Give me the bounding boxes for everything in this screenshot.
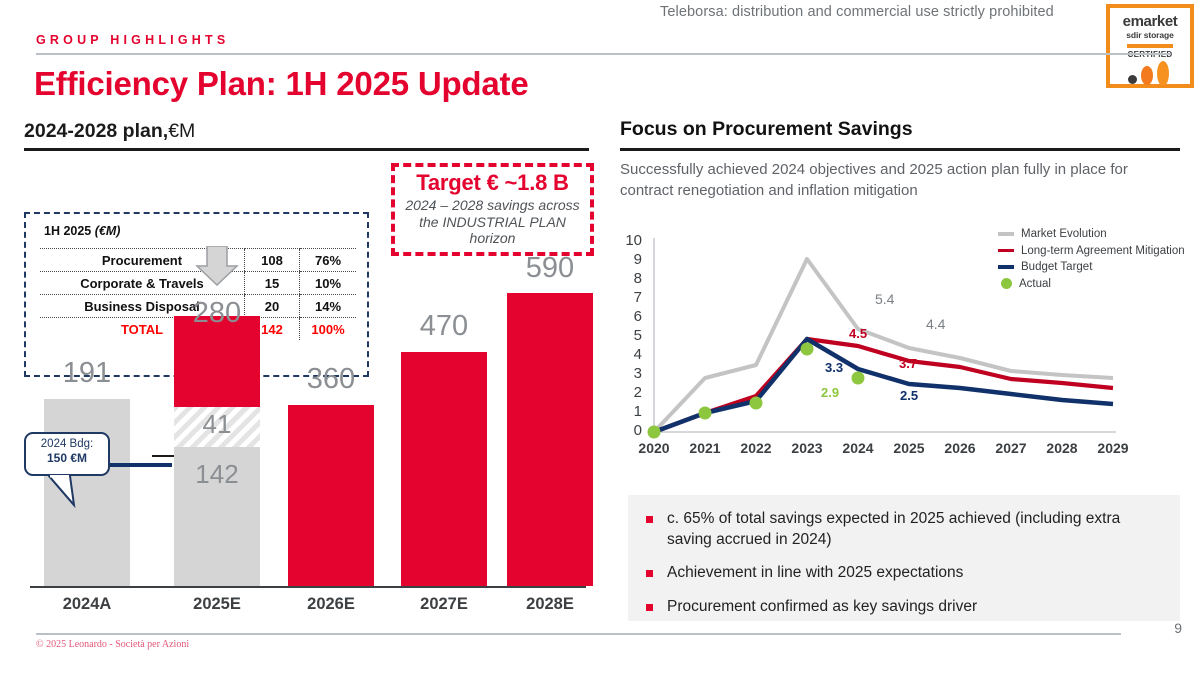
list-item: Achievement in line with 2025 expectatio… (646, 563, 1158, 584)
legend-item-longterm-agreement-mitigation: Long-term Agreement Mitigation (998, 245, 1185, 257)
bar-group-2026E: 360 (288, 405, 374, 586)
legend-label: Long-term Agreement Mitigation (1021, 245, 1185, 257)
x-tick-2026: 2026 (932, 440, 988, 456)
bar-segment-label-41: 41 (174, 409, 260, 440)
legend-item-market-evolution: Market Evolution (998, 228, 1185, 240)
bar-segment-hatched-2025E: 41 (174, 407, 260, 447)
callout-tail-icon (48, 475, 88, 509)
data-label-budget-2024: 3.3 (825, 360, 843, 375)
x-tick-2028: 2028 (1034, 440, 1090, 456)
bullet-square-icon (646, 516, 653, 523)
bullet-square-icon (646, 570, 653, 577)
bar-group-2025E: 280 41 142 (174, 316, 260, 586)
x-tick-2027: 2027 (983, 440, 1039, 456)
header-divider (36, 53, 1171, 55)
bar-group-2028E: 590 (507, 293, 593, 586)
bar-x-label-2024A: 2024A (32, 595, 142, 614)
bullet-text: Achievement in line with 2025 expectatio… (667, 563, 963, 584)
x-tick-2021: 2021 (677, 440, 733, 456)
page-title: Efficiency Plan: 1H 2025 Update (34, 65, 529, 103)
bullet-square-icon (646, 604, 653, 611)
right-section-divider (620, 148, 1180, 151)
actual-marker-2020 (648, 426, 661, 439)
logo-wordmark: emarket (1123, 14, 1178, 29)
actual-marker-2022 (750, 397, 763, 410)
right-section-heading: Focus on Procurement Savings (620, 118, 913, 141)
table-cell-value: 108 (245, 249, 300, 272)
bar-value-label-2025E: 280 (162, 297, 272, 330)
right-section-subtitle: Successfully achieved 2024 objectives an… (620, 160, 1180, 201)
slide-root: Teleborsa: distribution and commercial u… (0, 0, 1200, 675)
left-section-divider (24, 148, 589, 151)
target-headline: Target € ~1.8 B (395, 170, 590, 195)
left-heading-bold: 2024-2028 plan, (24, 120, 168, 142)
bar-segment-grey-2025E: 142 (174, 447, 260, 586)
legend-item-budget-target: Budget Target (998, 261, 1185, 273)
x-tick-2020: 2020 (626, 440, 682, 456)
key-takeaways-panel: c. 65% of total savings expected in 2025… (628, 495, 1180, 621)
improvement-arrow-icon (195, 246, 239, 286)
procurement-savings-line-chart: 10 9 8 7 6 5 4 3 2 1 0 5.4 (620, 228, 1180, 478)
table-cell-pct: 76% (300, 249, 357, 272)
target-callout-box: Target € ~1.8 B 2024 – 2028 savings acro… (391, 163, 594, 256)
page-number: 9 (1174, 620, 1182, 636)
logo-certified-label: CERTIFIED (1128, 50, 1173, 59)
bar-value-label-2028E: 590 (495, 252, 605, 285)
actual-marker-2023 (801, 343, 814, 356)
chart-baseline (30, 586, 586, 589)
bullet-text: Procurement confirmed as key savings dri… (667, 597, 977, 618)
budget-callout-bubble: 2024 Bdg: 150 €M (24, 432, 110, 476)
legend-swatch-red (998, 249, 1014, 253)
bar-x-label-2025E: 2025E (162, 595, 272, 614)
left-section-heading: 2024-2028 plan,€M (24, 120, 195, 143)
data-label-market-2025: 4.4 (926, 316, 945, 332)
eyebrow-label: GROUP HIGHLIGHTS (36, 33, 229, 47)
x-tick-2025: 2025 (881, 440, 937, 456)
bar-value-label-2027E: 470 (389, 310, 499, 343)
budget-callout-line2: 150 €M (26, 451, 108, 465)
x-tick-2024: 2024 (830, 440, 886, 456)
legend-label: Budget Target (1021, 261, 1092, 273)
legend-item-actual: Actual (998, 278, 1185, 290)
bar-group-2027E: 470 (401, 352, 487, 586)
emarket-certified-logo: emarket sdir storage CERTIFIED (1106, 4, 1194, 88)
table-caption-unit: (€M) (95, 224, 121, 238)
budget-callout-line1: 2024 Bdg: (26, 438, 108, 451)
target-description: 2024 – 2028 savings across the INDUSTRIA… (395, 197, 590, 247)
x-tick-2023: 2023 (779, 440, 835, 456)
data-label-lta-2024: 4.5 (849, 326, 867, 341)
list-item: Procurement confirmed as key savings dri… (646, 597, 1158, 618)
actual-marker-2021 (699, 407, 712, 420)
data-label-actual-2024: 2.9 (821, 385, 839, 400)
x-tick-2022: 2022 (728, 440, 784, 456)
data-label-market-2024: 5.4 (875, 291, 894, 307)
copyright-text: © 2025 Leonardo - Società per Azioni (36, 639, 189, 650)
bar-segment-red-2027E (401, 352, 487, 586)
data-label-budget-2025: 2.5 (900, 388, 918, 403)
bar-value-label-2024A: 191 (32, 357, 142, 390)
left-heading-unit: €M (168, 120, 195, 142)
bar-value-label-2026E: 360 (276, 363, 386, 396)
legend-label: Actual (1019, 278, 1051, 290)
actual-marker-2024 (852, 372, 865, 385)
legend-label: Market Evolution (1021, 228, 1107, 240)
efficiency-plan-bar-chart: 191 280 41 142 3 (10, 280, 590, 620)
list-item: c. 65% of total savings expected in 2025… (646, 509, 1158, 550)
bar-segment-red-2026E (288, 405, 374, 586)
legend-dot-green (1001, 278, 1012, 289)
bar-x-label-2026E: 2026E (276, 595, 386, 614)
bullet-text: c. 65% of total savings expected in 2025… (667, 509, 1158, 550)
data-label-lta-2025: 3.7 (899, 356, 917, 371)
bar-segment-label-142: 142 (174, 459, 260, 490)
logo-subtitle: sdir storage (1126, 30, 1173, 40)
logo-dots-icon (1124, 61, 1176, 84)
legend-swatch-navy (998, 265, 1014, 269)
footer-divider (36, 633, 1121, 635)
x-tick-2029: 2029 (1085, 440, 1141, 456)
legend-swatch-grey (998, 232, 1014, 236)
table-caption: 1H 2025 (€M) (44, 224, 120, 238)
chart-legend: Market Evolution Long-term Agreement Mit… (998, 228, 1185, 294)
bar-x-label-2027E: 2027E (389, 595, 499, 614)
series-longterm-agreement-mitigation (654, 339, 1113, 432)
logo-orange-bar (1127, 44, 1173, 48)
disclaimer-text: Teleborsa: distribution and commercial u… (660, 4, 1090, 20)
bar-segment-red-2028E (507, 293, 593, 586)
bar-x-label-2028E: 2028E (495, 595, 605, 614)
table-caption-bold: 1H 2025 (44, 224, 95, 238)
